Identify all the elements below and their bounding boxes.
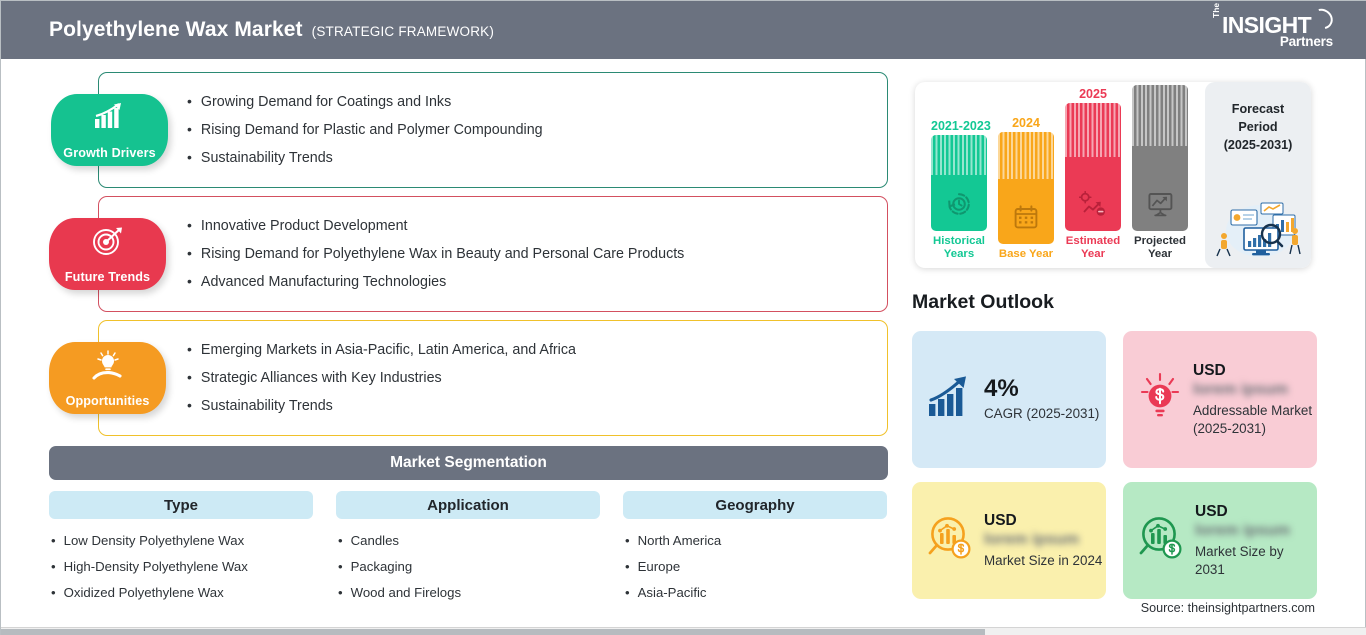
list-item: North America	[623, 527, 887, 553]
list-item: Oxidized Polyethylene Wax	[49, 579, 313, 605]
bar-shape	[1065, 103, 1121, 231]
page-header: Polyethylene Wax Market (STRATEGIC FRAME…	[1, 1, 1366, 59]
calendar-icon	[1013, 204, 1039, 235]
forecast-period-panel: 2021-2023 Historical Years 2024	[915, 82, 1311, 268]
bar-stripe-overlay	[998, 132, 1054, 179]
pillar-bullet-list: Growing Demand for Coatings and Inks Ris…	[99, 73, 887, 186]
list-item: Wood and Firelogs	[336, 579, 600, 605]
estimate-chart-icon	[1079, 191, 1107, 222]
badge-label: Future Trends	[65, 271, 150, 284]
pillar-bullet-list: Emerging Markets in Asia-Pacific, Latin …	[99, 321, 887, 434]
list-item: Asia-Pacific	[623, 579, 887, 605]
bar-shape	[1132, 85, 1188, 231]
lightbulb-hand-icon	[89, 350, 127, 387]
card-text: USD lorem ipsum Market Size in 2024	[984, 512, 1102, 570]
cagr-caption: CAGR (2025-2031)	[984, 405, 1099, 422]
bar-year-label: 2024	[998, 117, 1054, 130]
pillar-card-growth-drivers: Growing Demand for Coatings and Inks Ris…	[98, 72, 888, 188]
pillar-card-opportunities: Emerging Markets in Asia-Pacific, Latin …	[98, 320, 888, 436]
pillar-bullet-list: Innovative Product Development Rising De…	[99, 197, 887, 310]
bar-stripe-overlay	[1132, 85, 1188, 146]
currency-label: USD	[984, 512, 1102, 529]
scrollbar-thumb[interactable]	[1, 629, 985, 635]
list-item: Innovative Product Development	[187, 211, 887, 239]
page-subtitle: (STRATEGIC FRAMEWORK)	[312, 24, 494, 39]
market-segmentation-title: Market Segmentation	[390, 454, 547, 472]
badge-label: Growth Drivers	[63, 147, 155, 160]
lightbulb-dollar-icon	[1137, 372, 1183, 427]
bar-stripe-overlay	[1065, 103, 1121, 157]
column-header: Type	[49, 491, 313, 519]
list-item: Rising Demand for Plastic and Polymer Co…	[187, 115, 887, 143]
forecast-period-line2: Period	[1205, 119, 1311, 137]
segmentation-column-application: Application Candles Packaging Wood and F…	[336, 491, 600, 606]
list-item: Advanced Manufacturing Technologies	[187, 268, 887, 296]
bar-caption: Historical Years	[931, 235, 987, 261]
insight-partners-logo: The INSIGHT Partners	[1211, 9, 1339, 53]
cagr-value: 4%	[984, 375, 1019, 402]
segmentation-column-type: Type Low Density Polyethylene Wax High-D…	[49, 491, 313, 606]
history-clock-icon	[946, 191, 972, 222]
magnifier-chart-dollar-icon	[926, 514, 974, 567]
blurred-value: lorem ipsum	[1193, 381, 1317, 399]
header-title-group: Polyethylene Wax Market (STRATEGIC FRAME…	[49, 18, 494, 42]
forecast-period-text: Forecast Period (2025-2031)	[1205, 82, 1311, 155]
forecast-period-line3: (2025-2031)	[1205, 137, 1311, 155]
bar-chart-growth-icon	[92, 102, 128, 135]
forecast-bar-group: 2021-2023 Historical Years 2024	[915, 82, 1205, 268]
list-item: Rising Demand for Polyethylene Wax in Be…	[187, 239, 887, 267]
card-caption: Market Size in 2024	[984, 552, 1102, 569]
logo-arc-icon	[1307, 5, 1336, 33]
projection-screen-icon	[1147, 191, 1174, 222]
source-note: Source: theinsightpartners.com	[1141, 601, 1315, 615]
page-title: Polyethylene Wax Market	[49, 18, 303, 42]
bar-stripe-overlay	[931, 135, 987, 175]
card-text: 4% CAGR (2025-2031)	[984, 376, 1099, 423]
bar-shape	[998, 132, 1054, 244]
forecast-period-box: Forecast Period (2025-2031)	[1205, 82, 1311, 268]
logo-the-text: The	[1211, 3, 1221, 18]
target-dart-icon	[91, 226, 125, 261]
bar-caption: Projected Year	[1132, 235, 1188, 261]
market-outlook-title: Market Outlook	[912, 291, 1054, 314]
market-segmentation-header: Market Segmentation	[49, 446, 888, 480]
outlook-card-addressable-market: USD lorem ipsum Addressable Market (2025…	[1123, 331, 1317, 468]
bar-caption: Base Year	[998, 248, 1054, 261]
currency-label: USD	[1195, 503, 1317, 520]
column-items: North America Europe Asia-Pacific	[623, 527, 887, 606]
list-item: Strategic Alliances with Key Industries	[187, 363, 887, 391]
list-item: Europe	[623, 553, 887, 579]
bar-chart-arrow-icon	[926, 375, 974, 424]
column-header: Geography	[623, 491, 887, 519]
bar-shape	[931, 135, 987, 231]
badge-opportunities[interactable]: Opportunities	[49, 342, 166, 414]
blurred-value: lorem ipsum	[984, 531, 1102, 549]
list-item: Sustainability Trends	[187, 392, 887, 420]
forecast-bar-projected: 2031 Proje	[1132, 82, 1188, 261]
blurred-value: lorem ipsum	[1195, 522, 1317, 540]
pillar-card-future-trends: Innovative Product Development Rising De…	[98, 196, 888, 312]
infographic-page: Polyethylene Wax Market (STRATEGIC FRAME…	[0, 0, 1366, 635]
card-text: USD lorem ipsum Addressable Market (2025…	[1193, 362, 1317, 437]
badge-future-trends[interactable]: Future Trends	[49, 218, 166, 290]
badge-growth-drivers[interactable]: Growth Drivers	[51, 94, 168, 166]
list-item: Sustainability Trends	[187, 144, 887, 172]
badge-label: Opportunities	[66, 395, 150, 408]
bar-year-label: 2025	[1065, 88, 1121, 101]
magnifier-chart-dollar-icon	[1137, 514, 1185, 567]
currency-label: USD	[1193, 362, 1317, 379]
column-items: Low Density Polyethylene Wax High-Densit…	[49, 527, 313, 606]
analytics-illustration-icon	[1211, 198, 1305, 260]
card-caption: Market Size by 2031	[1195, 543, 1317, 578]
outlook-card-market-size-2031: USD lorem ipsum Market Size by 2031	[1123, 482, 1317, 599]
list-item: Packaging	[336, 553, 600, 579]
outlook-card-market-size-2024: USD lorem ipsum Market Size in 2024	[912, 482, 1106, 599]
forecast-bar-base: 2024	[998, 117, 1054, 261]
forecast-period-line1: Forecast	[1205, 101, 1311, 119]
bar-year-label: 2021-2023	[931, 120, 987, 133]
forecast-bar-historical: 2021-2023 Historical Years	[931, 120, 987, 261]
outlook-card-cagr: 4% CAGR (2025-2031)	[912, 331, 1106, 468]
forecast-bar-estimated: 2025	[1065, 88, 1121, 261]
list-item: High-Density Polyethylene Wax	[49, 553, 313, 579]
horizontal-scrollbar[interactable]	[1, 627, 1366, 635]
list-item: Candles	[336, 527, 600, 553]
card-text: USD lorem ipsum Market Size by 2031	[1195, 503, 1317, 578]
column-items: Candles Packaging Wood and Firelogs	[336, 527, 600, 606]
logo-partners-text: Partners	[1280, 34, 1333, 49]
list-item: Low Density Polyethylene Wax	[49, 527, 313, 553]
segmentation-column-geography: Geography North America Europe Asia-Paci…	[623, 491, 887, 606]
list-item: Emerging Markets in Asia-Pacific, Latin …	[187, 335, 887, 363]
bar-caption: Estimated Year	[1065, 235, 1121, 261]
list-item: Growing Demand for Coatings and Inks	[187, 87, 887, 115]
column-header: Application	[336, 491, 600, 519]
card-caption: Addressable Market (2025-2031)	[1193, 402, 1317, 437]
